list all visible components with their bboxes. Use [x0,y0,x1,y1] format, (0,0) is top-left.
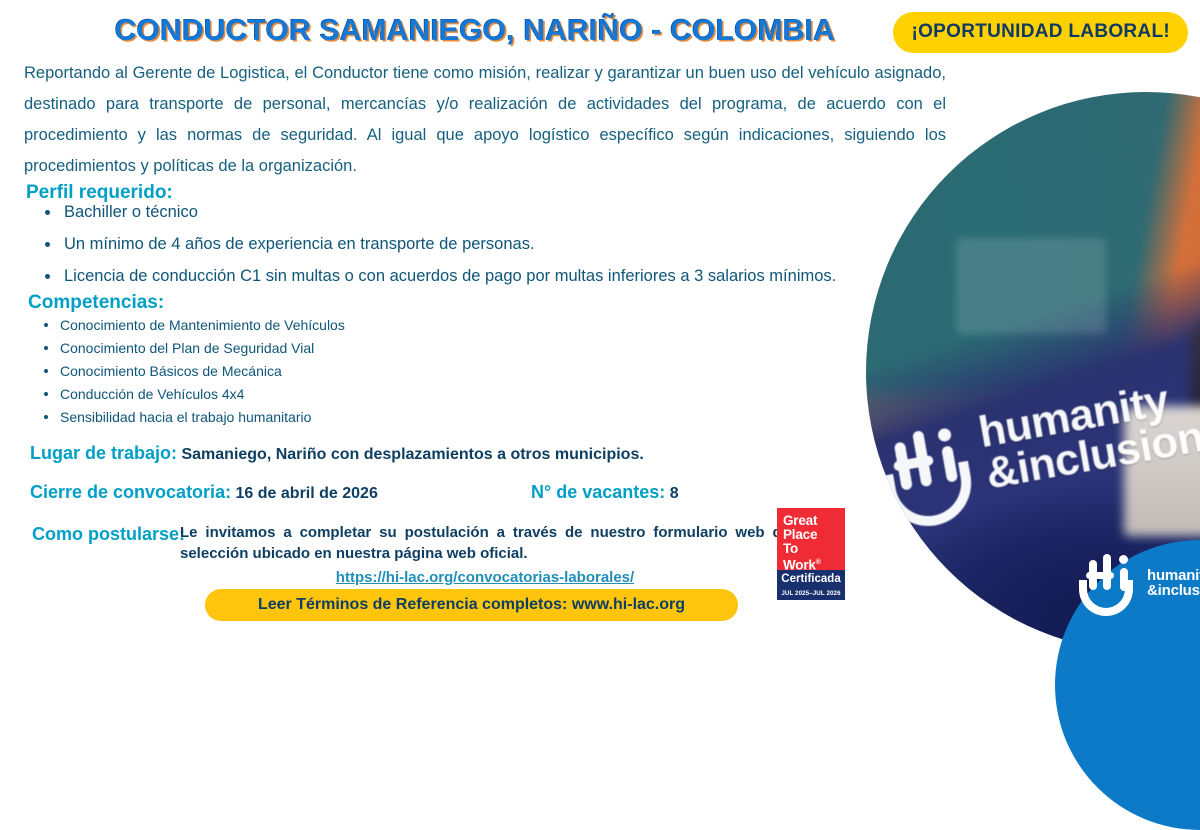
application-link[interactable]: https://hi-lac.org/convocatorias-laboral… [180,567,790,588]
status-badge-opportunity: ¡OPORTUNIDAD LABORAL! [893,12,1188,53]
registered-trademark-icon: ® [816,559,821,566]
list-item: Licencia de conducción C1 sin multas o c… [34,266,914,287]
gptw-period: JUL 2025–JUL 2026 [777,588,845,600]
gptw-certified-label: Certificada [777,570,845,588]
field-lugar-de-trabajo: Lugar de trabajo: Samaniego, Nariño con … [30,443,644,464]
intro-paragraph: Reportando al Gerente de Logistica, el C… [24,58,946,182]
field-label: Cierre de convocatoria: [30,482,231,502]
brand-name-line2: &inclusion [1147,583,1200,598]
gptw-wordmark: Great Place To Work® [777,508,845,570]
brand-name: humanity &inclusion [1147,568,1200,598]
gptw-line-2: Place [783,528,845,542]
list-item: Conocimiento Básicos de Mecánica [34,364,594,379]
field-value: 8 [670,485,679,502]
list-item: Sensibilidad hacia el trabajo humanitari… [34,410,594,425]
list-item: Un mínimo de 4 años de experiencia en tr… [34,234,914,255]
field-label: Como postularse: [32,524,185,545]
great-place-to-work-badge: Great Place To Work® Certificada JUL 202… [777,508,845,600]
postularse-body: Le invitamos a completar su postulación … [180,522,790,588]
field-cierre-convocatoria: Cierre de convocatoria: 16 de abril de 2… [30,482,378,503]
brand-name-line1: humanity [1147,568,1200,583]
field-value: Samaniego, Nariño con desplazamientos a … [181,446,643,463]
postularse-text: Le invitamos a completar su postulación … [180,524,790,562]
gptw-line-3: To [783,542,845,556]
field-label: Lugar de trabajo: [30,443,177,463]
photo-wall-board [956,238,1106,334]
field-value: 16 de abril de 2026 [236,485,378,502]
hand-icon [1075,552,1139,616]
list-item: Conducción de Vehículos 4x4 [34,387,594,402]
list-item: Conocimiento del Plan de Seguridad Vial [34,341,594,356]
section-heading-competencias: Competencias: [28,292,164,314]
list-item: Conocimiento de Mantenimiento de Vehícul… [34,318,594,333]
read-terms-button[interactable]: Leer Términos de Referencia completos: w… [205,589,738,621]
brand-logo: humanity &inclusion [1075,552,1200,618]
page-title: CONDUCTOR SAMANIEGO, NARIÑO - COLOMBIA [0,14,950,48]
hand-icon [877,422,984,533]
field-label: N° de vacantes: [531,482,665,502]
section-heading-perfil: Perfil requerido: [26,182,173,204]
gptw-line-1: Great [783,514,845,528]
list-item: Bachiller o técnico [34,202,914,223]
competencias-list: Conocimiento de Mantenimiento de Vehícul… [34,318,594,433]
vest-brand-name: humanity &inclusion [976,375,1200,496]
perfil-list: Bachiller o técnico Un mínimo de 4 años … [34,202,914,298]
field-numero-vacantes: N° de vacantes: 8 [531,482,679,503]
